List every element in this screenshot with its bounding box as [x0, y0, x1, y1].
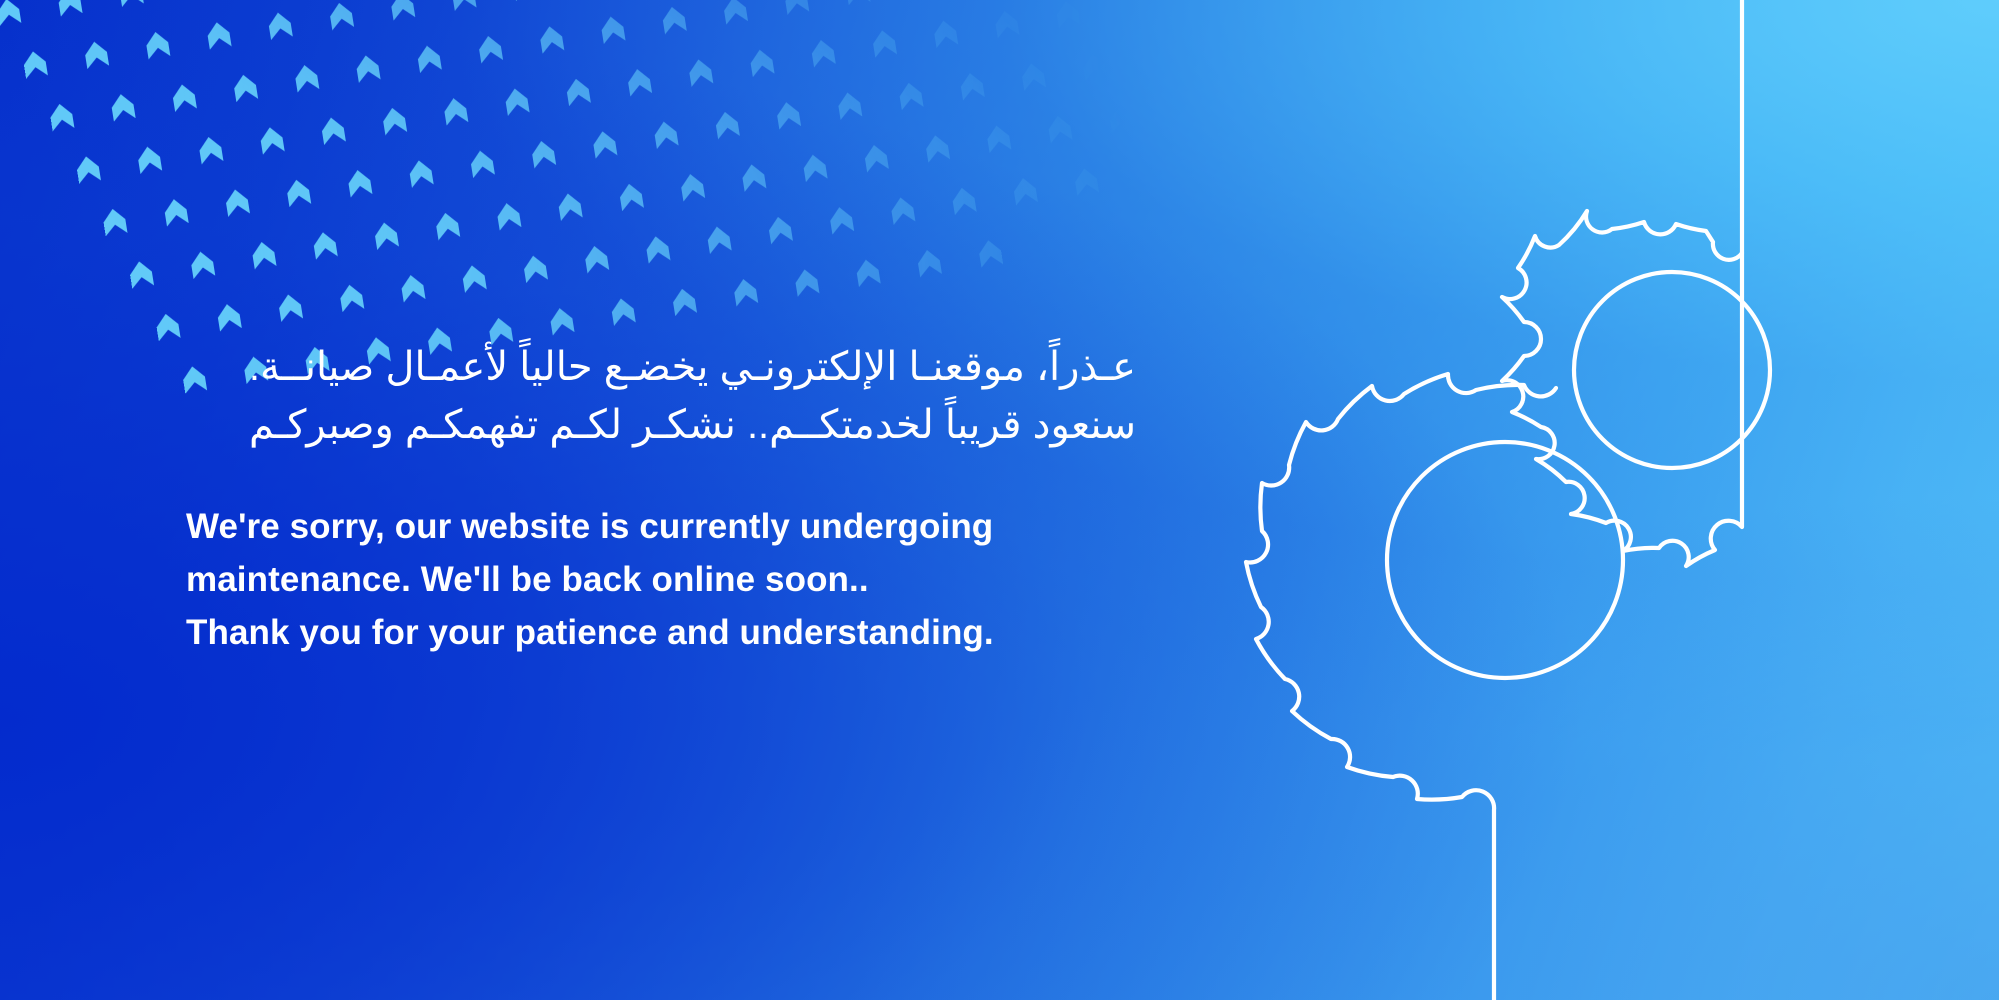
maintenance-page: عـذراً، موقعنـا الإلكترونـي يخضـع حالياً… — [0, 0, 1999, 1000]
english-message: We're sorry, our website is currently un… — [186, 500, 1196, 659]
english-message-line-1: We're sorry, our website is currently un… — [186, 500, 1196, 553]
arabic-message: عـذراً، موقعنـا الإلكترونـي يخضـع حالياً… — [186, 338, 1136, 454]
english-message-line-3: Thank you for your patience and understa… — [186, 606, 1196, 659]
arabic-message-line-2: سنعود قريباً لخدمتكــم.. نشكـر لكـم تفهم… — [186, 396, 1136, 454]
arabic-message-line-1: عـذراً، موقعنـا الإلكترونـي يخضـع حالياً… — [186, 338, 1136, 396]
maintenance-message: عـذراً، موقعنـا الإلكترونـي يخضـع حالياً… — [186, 338, 1196, 659]
english-message-line-2: maintenance. We'll be back online soon.. — [186, 553, 1196, 606]
